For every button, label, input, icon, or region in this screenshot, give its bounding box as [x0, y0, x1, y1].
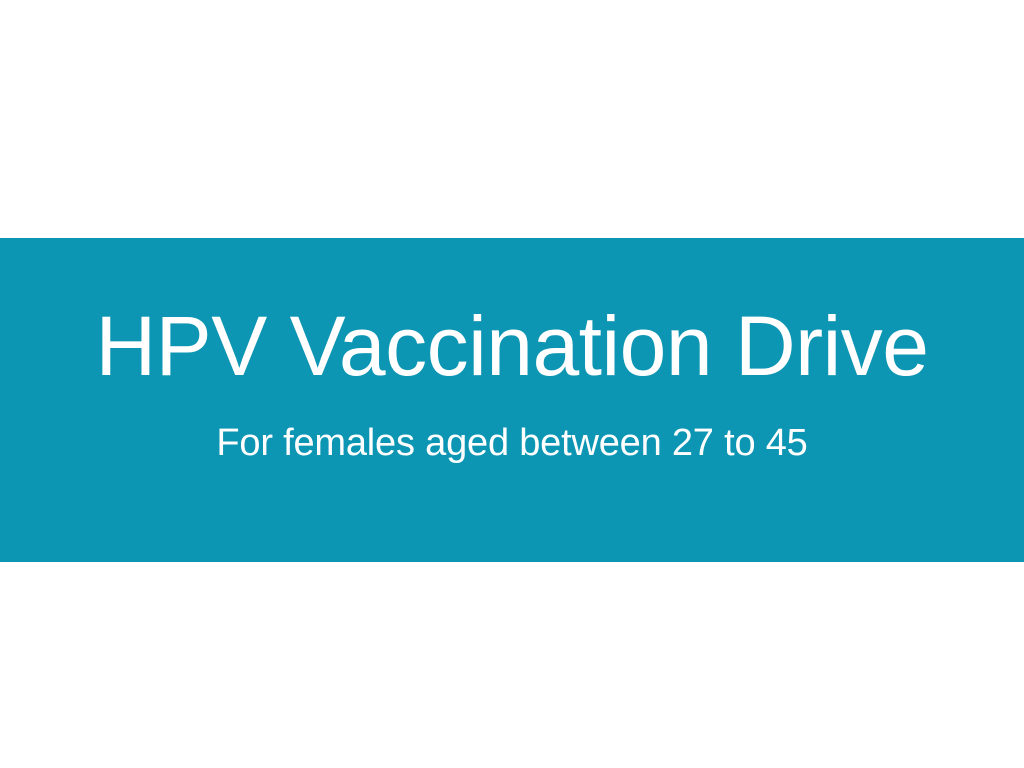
banner-title: HPV Vaccination Drive: [96, 304, 929, 388]
poster-canvas: HPV Vaccination Drive For females aged b…: [0, 0, 1024, 768]
hero-banner: HPV Vaccination Drive For females aged b…: [0, 238, 1024, 562]
banner-subtitle: For females aged between 27 to 45: [216, 424, 807, 462]
